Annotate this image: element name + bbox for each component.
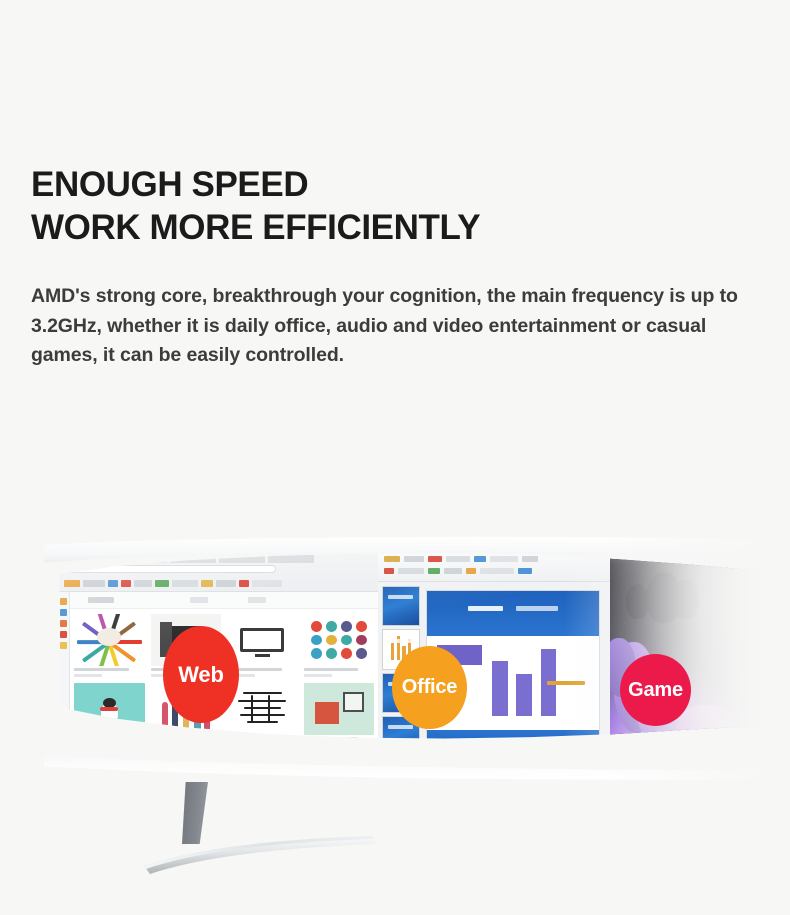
toolbar-chip[interactable] (155, 580, 169, 587)
toolbar-chip[interactable] (172, 580, 198, 587)
badge-web: Web (163, 626, 239, 723)
browser-tab[interactable] (219, 554, 265, 563)
sidebar-icon[interactable] (60, 642, 67, 649)
toolbar-chip[interactable] (108, 580, 118, 587)
ribbon-row-tools[interactable] (384, 568, 604, 574)
promo-description: AMD's strong core, breakthrough your cog… (31, 282, 753, 371)
toolbar-chip[interactable] (121, 580, 131, 587)
slide-footer (427, 730, 599, 751)
sidebar-icon[interactable] (60, 598, 67, 605)
headline-line-2: WORK MORE EFFICIENTLY (31, 206, 761, 249)
browser-left-sidebar[interactable] (58, 592, 70, 774)
toolbar-chip[interactable] (64, 580, 80, 587)
thumbnail-caption (304, 666, 375, 677)
monitor-bottom-bezel (44, 748, 784, 802)
slide-header (427, 591, 599, 636)
slide-thumbnail[interactable] (382, 586, 420, 626)
browser-address-bar[interactable] (66, 565, 276, 573)
badge-game: Game (620, 654, 691, 726)
thumbnail-card[interactable] (304, 614, 375, 677)
sidebar-icon[interactable] (60, 620, 67, 627)
toolbar-chip[interactable] (134, 580, 152, 587)
thumbnail-caption (227, 735, 298, 746)
browser-tab[interactable] (268, 554, 314, 563)
slide-chart-bar (492, 661, 507, 715)
slide-note (547, 681, 585, 685)
breadcrumb (248, 597, 266, 603)
headline-line-1: ENOUGH SPEED (31, 163, 761, 206)
thumbnail-caption (151, 735, 222, 746)
promo-copy-block: ENOUGH SPEED WORK MORE EFFICIENTLY AMD's… (31, 163, 761, 371)
badge-office: Office (392, 646, 467, 729)
pencil-fan-image (74, 614, 145, 666)
toolbar-chip[interactable] (216, 580, 236, 587)
thumbnail-card[interactable] (227, 683, 298, 746)
toolbar-chip[interactable] (239, 580, 249, 587)
slide-chart-bar (516, 674, 531, 716)
thumbnail-caption (304, 735, 375, 746)
tiger-lineart-image (227, 683, 298, 735)
thumbnail-caption (74, 666, 145, 677)
page-title: ENOUGH SPEED WORK MORE EFFICIENTLY (31, 163, 761, 249)
penguin-illustration-image (74, 683, 145, 735)
thumbnail-card[interactable] (74, 683, 145, 746)
badge-office-label: Office (402, 676, 457, 699)
toolbar-chip[interactable] (252, 580, 282, 587)
powerpoint-ribbon[interactable] (378, 552, 610, 582)
browser-toolbar[interactable] (64, 577, 374, 590)
room-illustration-image (304, 683, 375, 735)
monitor-illustration-image (227, 614, 298, 666)
badge-web-label: Web (178, 662, 223, 688)
icon-set-image (304, 614, 375, 666)
breadcrumb (88, 597, 114, 603)
thumbnail-card[interactable] (304, 683, 375, 746)
breadcrumb (190, 597, 208, 603)
badge-game-label: Game (628, 679, 683, 702)
toolbar-chip[interactable] (83, 580, 105, 587)
thumbnail-card[interactable] (74, 614, 145, 677)
thumbnail-caption (74, 735, 145, 746)
ribbon-row-menu[interactable] (384, 556, 604, 562)
sidebar-icon[interactable] (60, 631, 67, 638)
toolbar-chip[interactable] (201, 580, 213, 587)
browser-breadcrumb-bar (70, 592, 378, 609)
sidebar-icon[interactable] (60, 609, 67, 616)
